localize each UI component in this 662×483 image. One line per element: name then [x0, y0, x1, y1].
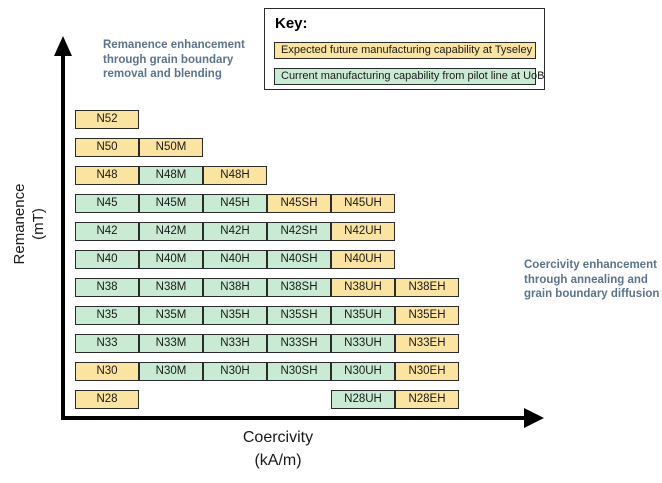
grade-cell-empty	[395, 110, 459, 129]
grade-cell-n45h[interactable]: N45H	[203, 194, 267, 213]
grade-cell-n33sh[interactable]: N33SH	[267, 334, 331, 353]
grade-cell-n50m[interactable]: N50M	[139, 138, 203, 157]
diagram-canvas: Remanence (mT) Coercivity (kA/m) Remanen…	[0, 0, 662, 483]
grade-cell-n40m[interactable]: N40M	[139, 250, 203, 269]
grade-cell-empty	[267, 138, 331, 157]
grade-cell-n48m[interactable]: N48M	[139, 166, 203, 185]
grade-cell-n38h[interactable]: N38H	[203, 278, 267, 297]
grade-cell-empty	[395, 138, 459, 157]
grade-cell-empty	[395, 222, 459, 241]
grade-cell-n50[interactable]: N50	[75, 138, 139, 157]
grade-cell-n38uh[interactable]: N38UH	[331, 278, 395, 297]
grade-cell-empty	[395, 194, 459, 213]
grade-cell-n33m[interactable]: N33M	[139, 334, 203, 353]
grade-cell-n33[interactable]: N33	[75, 334, 139, 353]
x-axis-label: Coercivity (kA/m)	[188, 426, 368, 472]
grade-cell-n35eh[interactable]: N35EH	[395, 306, 459, 325]
grade-cell-n38[interactable]: N38	[75, 278, 139, 297]
grade-cell-n48[interactable]: N48	[75, 166, 139, 185]
grade-cell-empty	[203, 138, 267, 157]
grade-cell-n30m[interactable]: N30M	[139, 362, 203, 381]
grade-cell-n45uh[interactable]: N45UH	[331, 194, 395, 213]
grade-cell-n35uh[interactable]: N35UH	[331, 306, 395, 325]
key-item-current-capability: Current manufacturing capability from pi…	[274, 68, 536, 85]
grade-cell-n30sh[interactable]: N30SH	[267, 362, 331, 381]
y-axis-label: Remanence (mT)	[10, 159, 48, 289]
grade-cell-n30[interactable]: N30	[75, 362, 139, 381]
grade-cell-n45m[interactable]: N45M	[139, 194, 203, 213]
grade-cell-empty	[267, 390, 331, 409]
grade-cell-n30uh[interactable]: N30UH	[331, 362, 395, 381]
grade-cell-n40sh[interactable]: N40SH	[267, 250, 331, 269]
grade-cell-empty	[139, 390, 203, 409]
grade-cell-empty	[395, 166, 459, 185]
grade-cell-n48h[interactable]: N48H	[203, 166, 267, 185]
grade-cell-empty	[203, 390, 267, 409]
grade-cell-n30eh[interactable]: N30EH	[395, 362, 459, 381]
y-axis-line	[61, 52, 65, 420]
grade-cell-n42m[interactable]: N42M	[139, 222, 203, 241]
y-axis-arrowhead-icon	[54, 36, 72, 56]
grade-cell-n42sh[interactable]: N42SH	[267, 222, 331, 241]
grade-cell-empty	[395, 250, 459, 269]
grade-cell-empty	[331, 110, 395, 129]
grade-cell-empty	[203, 110, 267, 129]
grade-cell-n33uh[interactable]: N33UH	[331, 334, 395, 353]
grade-cell-n33eh[interactable]: N33EH	[395, 334, 459, 353]
grade-cell-empty	[331, 166, 395, 185]
grade-cell-n28uh[interactable]: N28UH	[331, 390, 395, 409]
grade-cell-n38m[interactable]: N38M	[139, 278, 203, 297]
grade-cell-n52[interactable]: N52	[75, 110, 139, 129]
key-item-expected-future: Expected future manufacturing capability…	[274, 42, 536, 59]
grade-cell-n45sh[interactable]: N45SH	[267, 194, 331, 213]
grade-cell-empty	[267, 166, 331, 185]
grade-cell-empty	[267, 110, 331, 129]
grade-cell-n42h[interactable]: N42H	[203, 222, 267, 241]
grade-cell-empty	[139, 110, 203, 129]
grade-cell-n40uh[interactable]: N40UH	[331, 250, 395, 269]
grade-cell-n28[interactable]: N28	[75, 390, 139, 409]
grade-cell-empty	[331, 138, 395, 157]
grade-cell-n45[interactable]: N45	[75, 194, 139, 213]
annotation-remanence-enhancement: Remanence enhancement through grain boun…	[103, 38, 253, 82]
grade-cell-n28eh[interactable]: N28EH	[395, 390, 459, 409]
grade-cell-n38eh[interactable]: N38EH	[395, 278, 459, 297]
grade-cell-n40h[interactable]: N40H	[203, 250, 267, 269]
grade-cell-n35[interactable]: N35	[75, 306, 139, 325]
key-title: Key:	[275, 15, 308, 32]
x-axis-line	[61, 416, 530, 420]
grade-cell-n40[interactable]: N40	[75, 250, 139, 269]
grade-cell-n35h[interactable]: N35H	[203, 306, 267, 325]
grade-cell-n42uh[interactable]: N42UH	[331, 222, 395, 241]
key-legend-box: Key: Expected future manufacturing capab…	[264, 8, 545, 90]
grade-cell-n42[interactable]: N42	[75, 222, 139, 241]
grade-cell-n33h[interactable]: N33H	[203, 334, 267, 353]
grade-cell-n38sh[interactable]: N38SH	[267, 278, 331, 297]
annotation-coercivity-enhancement: Coercivity enhancement through annealing…	[524, 258, 660, 302]
x-axis-arrowhead-icon	[524, 408, 544, 428]
grade-cell-n35sh[interactable]: N35SH	[267, 306, 331, 325]
grade-cell-n35m[interactable]: N35M	[139, 306, 203, 325]
grade-cell-n30h[interactable]: N30H	[203, 362, 267, 381]
